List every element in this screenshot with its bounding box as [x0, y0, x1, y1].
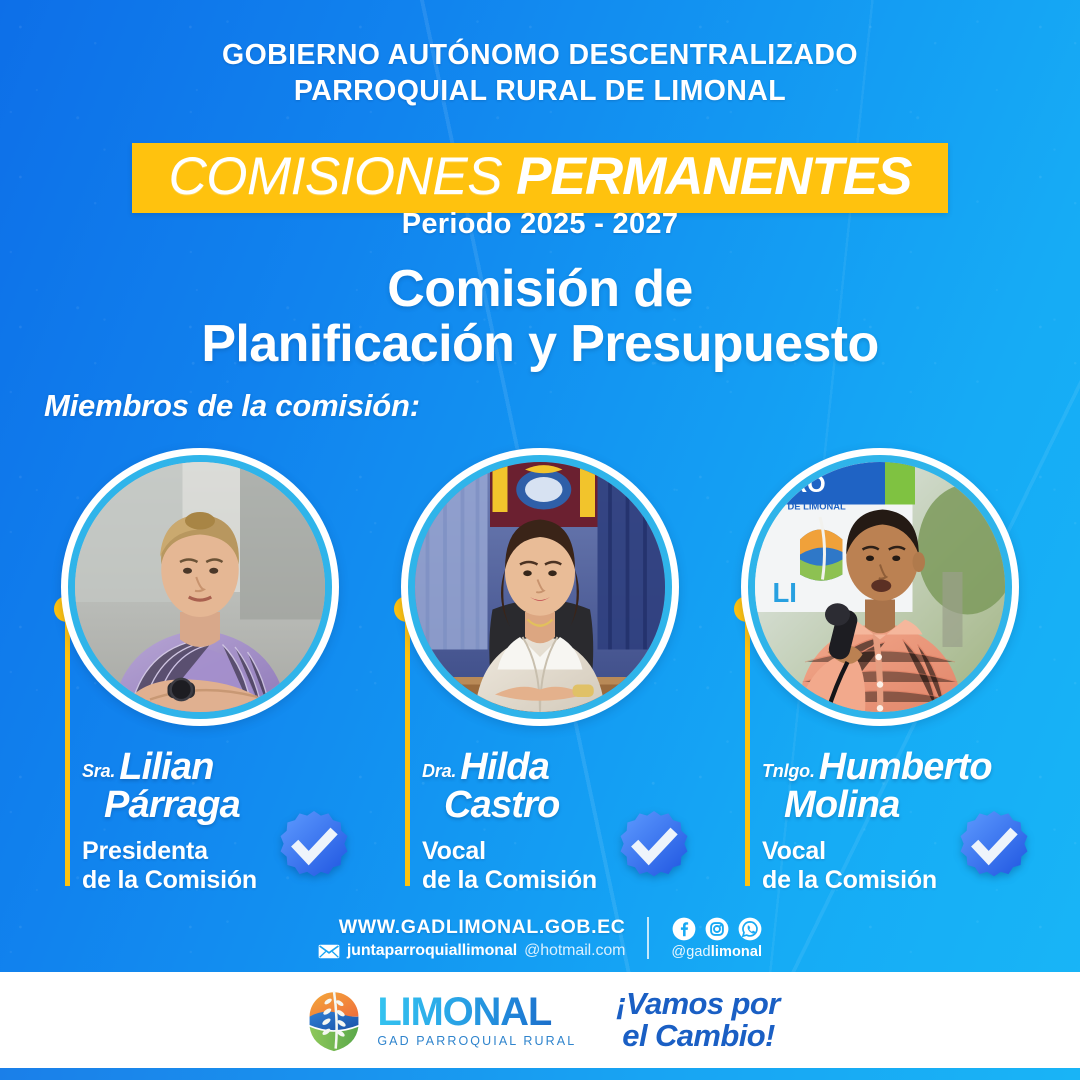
- member-honorific: Tnlgo.: [762, 761, 815, 781]
- member-role: Vocal de la Comisión: [422, 837, 712, 895]
- member-name-block: Dra.Hilda Castro Vocal de la Comisión: [422, 748, 712, 895]
- contact-divider: [647, 917, 649, 959]
- banner-word-permanentes: PERMANENTES: [516, 150, 911, 203]
- banner-word-comisiones: COMISIONES: [168, 150, 502, 203]
- social-icons: [671, 917, 762, 941]
- slogan: ¡Vamos por el Cambio!: [616, 988, 779, 1051]
- member-card: RO DE LIMONAL LI: [710, 448, 1050, 888]
- member-first-name: Lilian: [119, 746, 213, 788]
- email-user: juntaparroquiallimonal: [347, 942, 517, 960]
- slogan-line2: el Cambio!: [622, 1020, 779, 1052]
- avatar-ring-inner: RO DE LIMONAL LI: [748, 455, 1012, 719]
- members-label: Miembros de la comisión:: [44, 388, 420, 424]
- email-domain: @hotmail.com: [524, 942, 625, 960]
- limonal-logo-text: LIMONAL GAD PARROQUIAL RURAL: [377, 992, 576, 1048]
- facebook-icon[interactable]: [672, 917, 696, 941]
- member-name-line1: Dra.Hilda: [422, 748, 712, 786]
- commission-title-line2: Planificación y Presupuesto: [0, 317, 1080, 372]
- member-role-line1: Vocal: [762, 837, 1052, 866]
- avatar: [415, 462, 665, 712]
- member-honorific: Sra.: [82, 761, 115, 781]
- envelope-icon: [318, 944, 340, 959]
- member-name-block: Sra.Lilian Párraga Presidenta de la Comi…: [82, 748, 372, 895]
- website-link[interactable]: WWW.GADLIMONAL.GOB.EC: [318, 916, 626, 939]
- member-first-name: Hilda: [460, 746, 549, 788]
- organization-title: GOBIERNO AUTÓNOMO DESCENTRALIZADO PARROQ…: [0, 38, 1080, 110]
- avatar-ring: RO DE LIMONAL LI: [741, 448, 1019, 726]
- members-list: Sra.Lilian Párraga Presidenta de la Comi…: [0, 448, 1080, 888]
- svg-text:LI: LI: [773, 577, 797, 608]
- avatar: [75, 462, 325, 712]
- member-card: Sra.Lilian Párraga Presidenta de la Comi…: [30, 448, 370, 888]
- slogan-line1: ¡Vamos por: [616, 986, 779, 1021]
- contact-strip: WWW.GADLIMONAL.GOB.EC juntaparroquiallim…: [0, 916, 1080, 960]
- member-role-line2: de la Comisión: [762, 866, 1052, 895]
- member-name-block: Tnlgo.Humberto Molina Vocal de la Comisi…: [762, 748, 1052, 895]
- social-handle-bold: limonal: [711, 944, 762, 960]
- member-last-name: Castro: [444, 786, 712, 825]
- commission-title-line1: Comisión de: [0, 262, 1080, 317]
- footer-bottom-strip: [0, 1068, 1080, 1080]
- avatar-ring: [61, 448, 339, 726]
- member-first-name: Humberto: [819, 746, 992, 788]
- member-card: Dra.Hilda Castro Vocal de la Comisión: [370, 448, 710, 888]
- avatar-ring-inner: [408, 455, 672, 719]
- comisiones-permanentes-banner: COMISIONES PERMANENTES: [132, 143, 947, 213]
- member-last-name: Párraga: [104, 786, 372, 825]
- pin-stem: [405, 616, 410, 886]
- whatsapp-icon[interactable]: [738, 917, 762, 941]
- instagram-icon[interactable]: [705, 917, 729, 941]
- member-role-line1: Presidenta: [82, 837, 372, 866]
- limonal-subtitle: GAD PARROQUIAL RURAL: [377, 1035, 576, 1048]
- member-name-line1: Tnlgo.Humberto: [762, 748, 1052, 786]
- avatar: RO DE LIMONAL LI: [755, 462, 1005, 712]
- member-role: Vocal de la Comisión: [762, 837, 1052, 895]
- avatar-ring-inner: [68, 455, 332, 719]
- social-handle-prefix: @gad: [671, 944, 710, 960]
- svg-text:DE LIMONAL: DE LIMONAL: [788, 502, 847, 512]
- pin-stem: [65, 616, 70, 886]
- svg-text:RO: RO: [790, 471, 826, 498]
- contact-left: WWW.GADLIMONAL.GOB.EC juntaparroquiallim…: [318, 916, 626, 960]
- member-last-name: Molina: [784, 786, 1052, 825]
- member-role-line2: de la Comisión: [422, 866, 712, 895]
- organization-title-line2: PARROQUIAL RURAL DE LIMONAL: [0, 74, 1080, 110]
- pin-stem: [745, 616, 750, 886]
- commission-title: Comisión de Planificación y Presupuesto: [0, 262, 1080, 371]
- member-honorific: Dra.: [422, 761, 456, 781]
- poster-canvas: GOBIERNO AUTÓNOMO DESCENTRALIZADO PARROQ…: [0, 0, 1080, 1080]
- social-handle: @gadlimonal: [671, 944, 762, 960]
- contact-right: @gadlimonal: [671, 917, 762, 960]
- limonal-logo-mark-icon: [300, 988, 368, 1052]
- member-role-line2: de la Comisión: [82, 866, 372, 895]
- organization-title-line1: GOBIERNO AUTÓNOMO DESCENTRALIZADO: [0, 38, 1080, 74]
- limonal-logo: LIMONAL GAD PARROQUIAL RURAL: [300, 988, 576, 1052]
- limonal-wordmark: LIMONAL: [377, 992, 576, 1032]
- email-row[interactable]: juntaparroquiallimonal@hotmail.com: [318, 942, 626, 960]
- member-role: Presidenta de la Comisión: [82, 837, 372, 895]
- avatar-ring: [401, 448, 679, 726]
- banner-wrapper: COMISIONES PERMANENTES: [0, 143, 1080, 213]
- member-role-line1: Vocal: [422, 837, 712, 866]
- footer-bar: LIMONAL GAD PARROQUIAL RURAL ¡Vamos por …: [0, 972, 1080, 1068]
- period-label: Periodo 2025 - 2027: [0, 208, 1080, 241]
- member-name-line1: Sra.Lilian: [82, 748, 372, 786]
